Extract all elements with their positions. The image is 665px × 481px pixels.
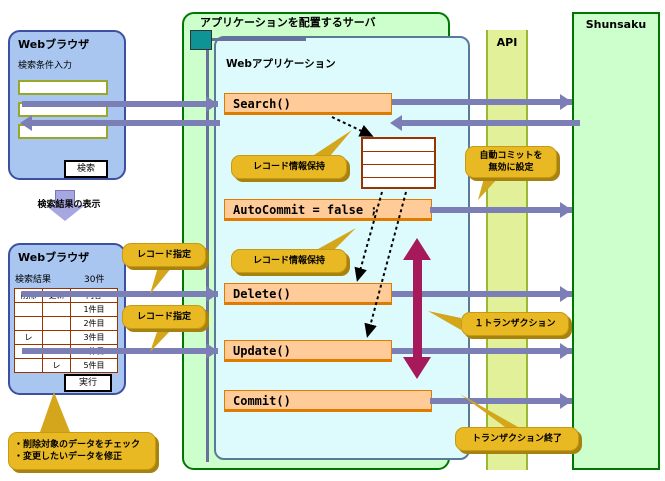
server-stem-horizontal — [206, 38, 306, 41]
callout-autocommit-line1: 自動コミットを — [479, 151, 542, 161]
browser-results-title: Webブラウザ — [18, 249, 118, 265]
result-label: 検索結果 — [15, 272, 51, 285]
api-lane — [486, 30, 528, 470]
callout-record-hold-2: レコード情報保持 — [231, 249, 347, 273]
arrow-autocommit-to-shunsaku — [430, 207, 572, 213]
method-search[interactable]: Search() — [224, 93, 392, 115]
callout-record-hold-1: レコード情報保持 — [231, 155, 347, 179]
arrow-head-browser-to-update — [206, 343, 218, 359]
cell-update-checkbox[interactable] — [43, 303, 71, 317]
callout-transaction-end: トランザクション終了 — [455, 427, 579, 451]
arrow-shunsaku-to-search — [400, 120, 580, 126]
shunsaku-title: Shunsaku — [572, 18, 660, 31]
cell-delete-checkbox[interactable] — [15, 303, 43, 317]
tail-record-spec-1 — [150, 267, 172, 294]
callout-autocommit-line2: 無効に設定 — [488, 163, 533, 173]
callout-one-transaction: １トランザクション — [461, 312, 569, 336]
method-autocommit[interactable]: AutoCommit = false ; — [224, 199, 432, 221]
results-table: 削除 更新 内容 1件目 2件目 レ 3件目 — [14, 288, 118, 373]
table-row[interactable]: 1件目 — [15, 303, 118, 317]
shunsaku-container — [572, 12, 660, 470]
cell-delete-checkbox[interactable]: レ — [15, 331, 43, 345]
arrow-head-search-to-browser — [20, 115, 32, 131]
arrow-commit-to-shunsaku — [430, 398, 572, 404]
transaction-span-arrow-head-down — [403, 357, 431, 379]
transaction-span-arrow-head-up — [403, 238, 431, 260]
table-row[interactable]: レ 3件目 — [15, 331, 118, 345]
cell-update-checkbox[interactable]: レ — [43, 359, 71, 373]
diagram-canvas: アプリケーションを配置するサーバ Shunsaku API Webアプリケーショ… — [0, 0, 665, 481]
cell-content: 3件目 — [71, 331, 118, 345]
browser-search-title: Webブラウザ — [18, 36, 118, 52]
api-title: API — [486, 36, 528, 49]
method-commit[interactable]: Commit() — [224, 390, 432, 412]
cell-update-checkbox[interactable] — [43, 317, 71, 331]
arrow-browser-to-search — [22, 101, 218, 107]
arrow-head-autocommit — [560, 202, 572, 218]
callout-autocommit-note: 自動コミットを 無効に設定 — [465, 146, 557, 178]
tail-check-note — [40, 392, 70, 432]
held-record-row — [363, 139, 434, 152]
arrow-browser-to-delete — [22, 291, 218, 297]
held-record-row — [363, 178, 434, 190]
arrow-search-to-shunsaku — [392, 99, 572, 105]
callout-check-note: ・削除対象のデータをチェック ・変更したいデータを修正 — [8, 432, 156, 470]
server-node-icon — [190, 30, 212, 50]
search-condition-label: 検索条件入力 — [18, 58, 118, 71]
cell-delete-checkbox[interactable] — [15, 317, 43, 331]
arrow-head-shunsaku-to-search — [390, 115, 402, 131]
arrow-head-delete-to-shunsaku — [560, 286, 572, 302]
cell-content: 1件目 — [71, 303, 118, 317]
callout-record-spec-1: レコード指定 — [122, 243, 206, 267]
server-title: アプリケーションを配置するサーバ — [200, 14, 440, 30]
callout-check-line1: ・削除対象のデータをチェック — [14, 439, 140, 451]
held-record-table — [361, 137, 436, 189]
cell-content: 2件目 — [71, 317, 118, 331]
table-row[interactable]: 2件目 — [15, 317, 118, 331]
search-button[interactable]: 検索 — [64, 160, 108, 178]
arrow-search-to-browser — [30, 120, 220, 126]
callout-check-line2: ・変更したいデータを修正 — [14, 451, 140, 463]
arrow-head-browser-to-search — [206, 96, 218, 112]
flow-arrow-label: 検索結果の表示 — [14, 197, 124, 210]
webapp-title: Webアプリケーション — [226, 56, 426, 71]
execute-button[interactable]: 実行 — [64, 374, 112, 392]
arrow-head-commit-to-shunsaku — [560, 393, 572, 409]
cell-delete-checkbox[interactable] — [15, 359, 43, 373]
search-input-1[interactable] — [18, 80, 108, 95]
arrow-browser-to-update — [22, 348, 218, 354]
result-count-badge: 30件 — [84, 272, 104, 285]
method-delete[interactable]: Delete() — [224, 283, 392, 305]
held-record-row — [363, 165, 434, 178]
cell-update-checkbox[interactable] — [43, 331, 71, 345]
table-row[interactable]: レ 5件目 — [15, 359, 118, 373]
method-update[interactable]: Update() — [224, 340, 392, 362]
cell-content: 5件目 — [71, 359, 118, 373]
arrow-head-browser-to-delete — [206, 286, 218, 302]
callout-record-spec-2: レコード指定 — [122, 305, 206, 329]
arrow-head-update-to-shunsaku — [560, 343, 572, 359]
held-record-row — [363, 152, 434, 165]
arrow-head-search-to-shunsaku — [560, 94, 572, 110]
transaction-span-arrow-body — [413, 258, 422, 358]
